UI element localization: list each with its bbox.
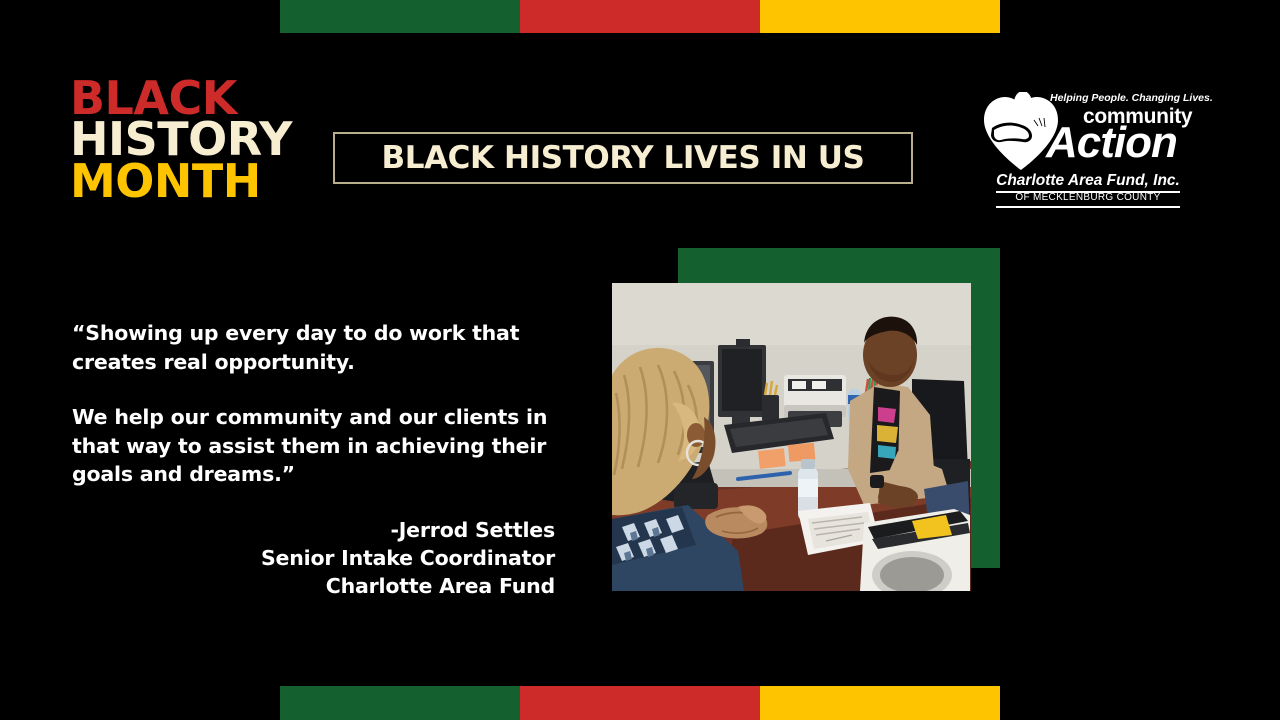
attribution-role: Senior Intake Coordinator: [72, 544, 555, 572]
attribution-name: -Jerrod Settles: [72, 516, 555, 544]
top-bar-red-segment: [520, 0, 760, 33]
headline-text: BLACK HISTORY LIVES IN US: [381, 140, 864, 176]
quote-block: “Showing up every day to do work that cr…: [72, 319, 552, 489]
intake-meeting-photo: [612, 283, 971, 591]
quote-paragraph-1: “Showing up every day to do work that cr…: [72, 319, 552, 376]
headline-box: BLACK HISTORY LIVES IN US: [333, 132, 913, 184]
logo-tagline: Helping People. Changing Lives.: [1050, 92, 1213, 104]
quote-paragraph-2: We help our community and our clients in…: [72, 403, 552, 489]
logo-word-action: Action: [1046, 118, 1177, 168]
community-action-logo: Helping People. Changing Lives. communit…: [978, 88, 1200, 206]
logo-organization-name: Charlotte Area Fund, Inc.: [988, 172, 1188, 190]
slide-canvas: BLACK HISTORY MONTH BLACK HISTORY LIVES …: [0, 0, 1280, 720]
bottom-bar-gold-segment: [760, 686, 1000, 720]
bottom-bar-red-segment: [520, 686, 760, 720]
top-color-bar: [280, 0, 1000, 33]
attribution-organization: Charlotte Area Fund: [72, 572, 555, 600]
black-history-month-title: BLACK HISTORY MONTH: [70, 78, 292, 202]
title-line-month: MONTH: [70, 161, 292, 202]
quote-attribution: -Jerrod Settles Senior Intake Coordinato…: [72, 516, 555, 600]
top-bar-green-segment: [280, 0, 520, 33]
bottom-bar-green-segment: [280, 686, 520, 720]
quote-spacer: [72, 376, 552, 403]
bottom-color-bar: [280, 686, 1000, 720]
logo-divider-bottom: [996, 206, 1180, 208]
logo-county-line: OF MECKLENBURG COUNTY: [988, 192, 1188, 203]
top-bar-gold-segment: [760, 0, 1000, 33]
